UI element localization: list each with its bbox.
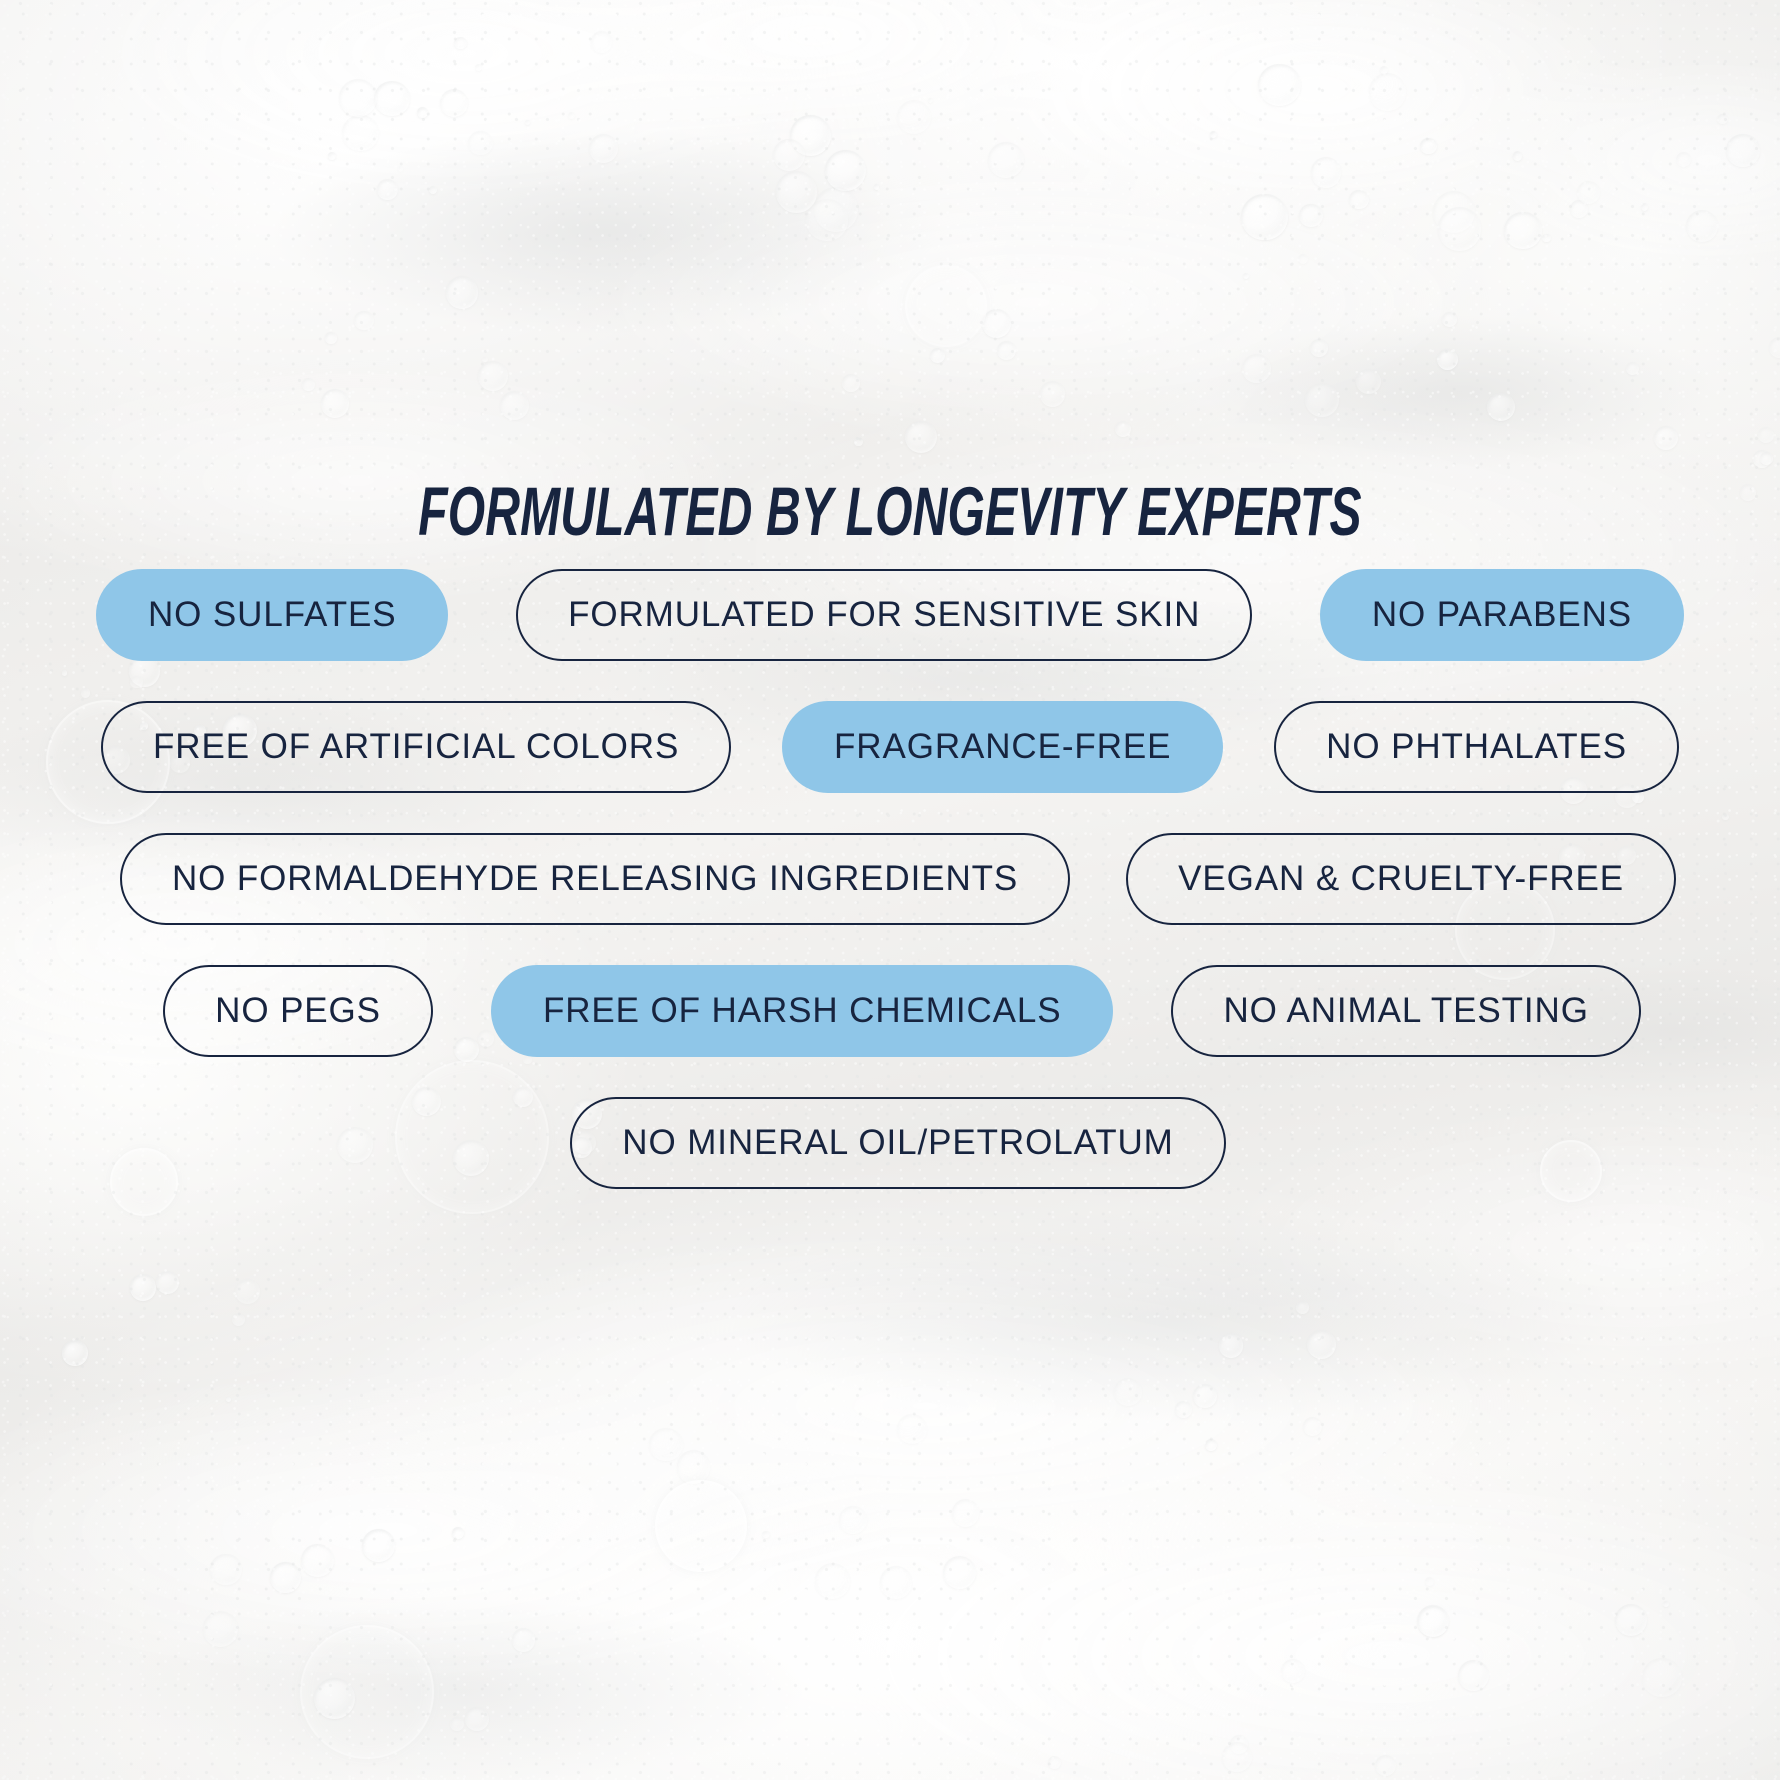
badge-label: FREE OF ARTIFICIAL COLORS	[153, 729, 679, 764]
badge-label: NO SULFATES	[148, 597, 396, 632]
claims-badge-grid: NO SULFATES FORMULATED FOR SENSITIVE SKI…	[0, 566, 1780, 1226]
badge-free-of-harsh-chemicals[interactable]: FREE OF HARSH CHEMICALS	[491, 965, 1114, 1057]
badge-label: NO ANIMAL TESTING	[1223, 993, 1588, 1028]
badge-no-parabens[interactable]: NO PARABENS	[1320, 569, 1684, 661]
badge-free-of-artificial-colors[interactable]: FREE OF ARTIFICIAL COLORS	[101, 701, 731, 793]
badge-fragrance-free[interactable]: FRAGRANCE-FREE	[782, 701, 1223, 793]
badge-label: NO FORMALDEHYDE RELEASING INGREDIENTS	[172, 861, 1018, 896]
badge-label: FRAGRANCE-FREE	[834, 729, 1171, 764]
marketing-graphic-canvas: FORMULATED BY LONGEVITY EXPERTS NO SULFA…	[0, 0, 1780, 1780]
badge-no-sulfates[interactable]: NO SULFATES	[96, 569, 448, 661]
badge-row-3: NO FORMALDEHYDE RELEASING INGREDIENTS VE…	[0, 830, 1780, 928]
badge-row-4: NO PEGS FREE OF HARSH CHEMICALS NO ANIMA…	[0, 962, 1780, 1060]
badge-label: NO MINERAL OIL/PETROLATUM	[622, 1125, 1173, 1160]
badge-no-formaldehyde-releasing-ingredients[interactable]: NO FORMALDEHYDE RELEASING INGREDIENTS	[120, 833, 1070, 925]
badge-row-2: FREE OF ARTIFICIAL COLORS FRAGRANCE-FREE…	[0, 698, 1780, 796]
badge-label: FORMULATED FOR SENSITIVE SKIN	[568, 597, 1200, 632]
badge-label: FREE OF HARSH CHEMICALS	[543, 993, 1062, 1028]
badge-formulated-for-sensitive-skin[interactable]: FORMULATED FOR SENSITIVE SKIN	[516, 569, 1252, 661]
badge-no-pegs[interactable]: NO PEGS	[163, 965, 433, 1057]
badge-label: NO PARABENS	[1372, 597, 1632, 632]
page-title: FORMULATED BY LONGEVITY EXPERTS	[270, 472, 1510, 551]
badge-no-phthalates[interactable]: NO PHTHALATES	[1274, 701, 1679, 793]
badge-label: NO PHTHALATES	[1326, 729, 1627, 764]
badge-row-1: NO SULFATES FORMULATED FOR SENSITIVE SKI…	[0, 566, 1780, 664]
badge-label: NO PEGS	[215, 993, 381, 1028]
badge-vegan-and-cruelty-free[interactable]: VEGAN & CRUELTY-FREE	[1126, 833, 1676, 925]
badge-row-5: NO MINERAL OIL/PETROLATUM	[0, 1094, 1780, 1192]
badge-no-mineral-oil-petrolatum[interactable]: NO MINERAL OIL/PETROLATUM	[570, 1097, 1225, 1189]
badge-label: VEGAN & CRUELTY-FREE	[1178, 861, 1624, 896]
badge-no-animal-testing[interactable]: NO ANIMAL TESTING	[1171, 965, 1640, 1057]
content-layer: FORMULATED BY LONGEVITY EXPERTS NO SULFA…	[0, 0, 1780, 1780]
